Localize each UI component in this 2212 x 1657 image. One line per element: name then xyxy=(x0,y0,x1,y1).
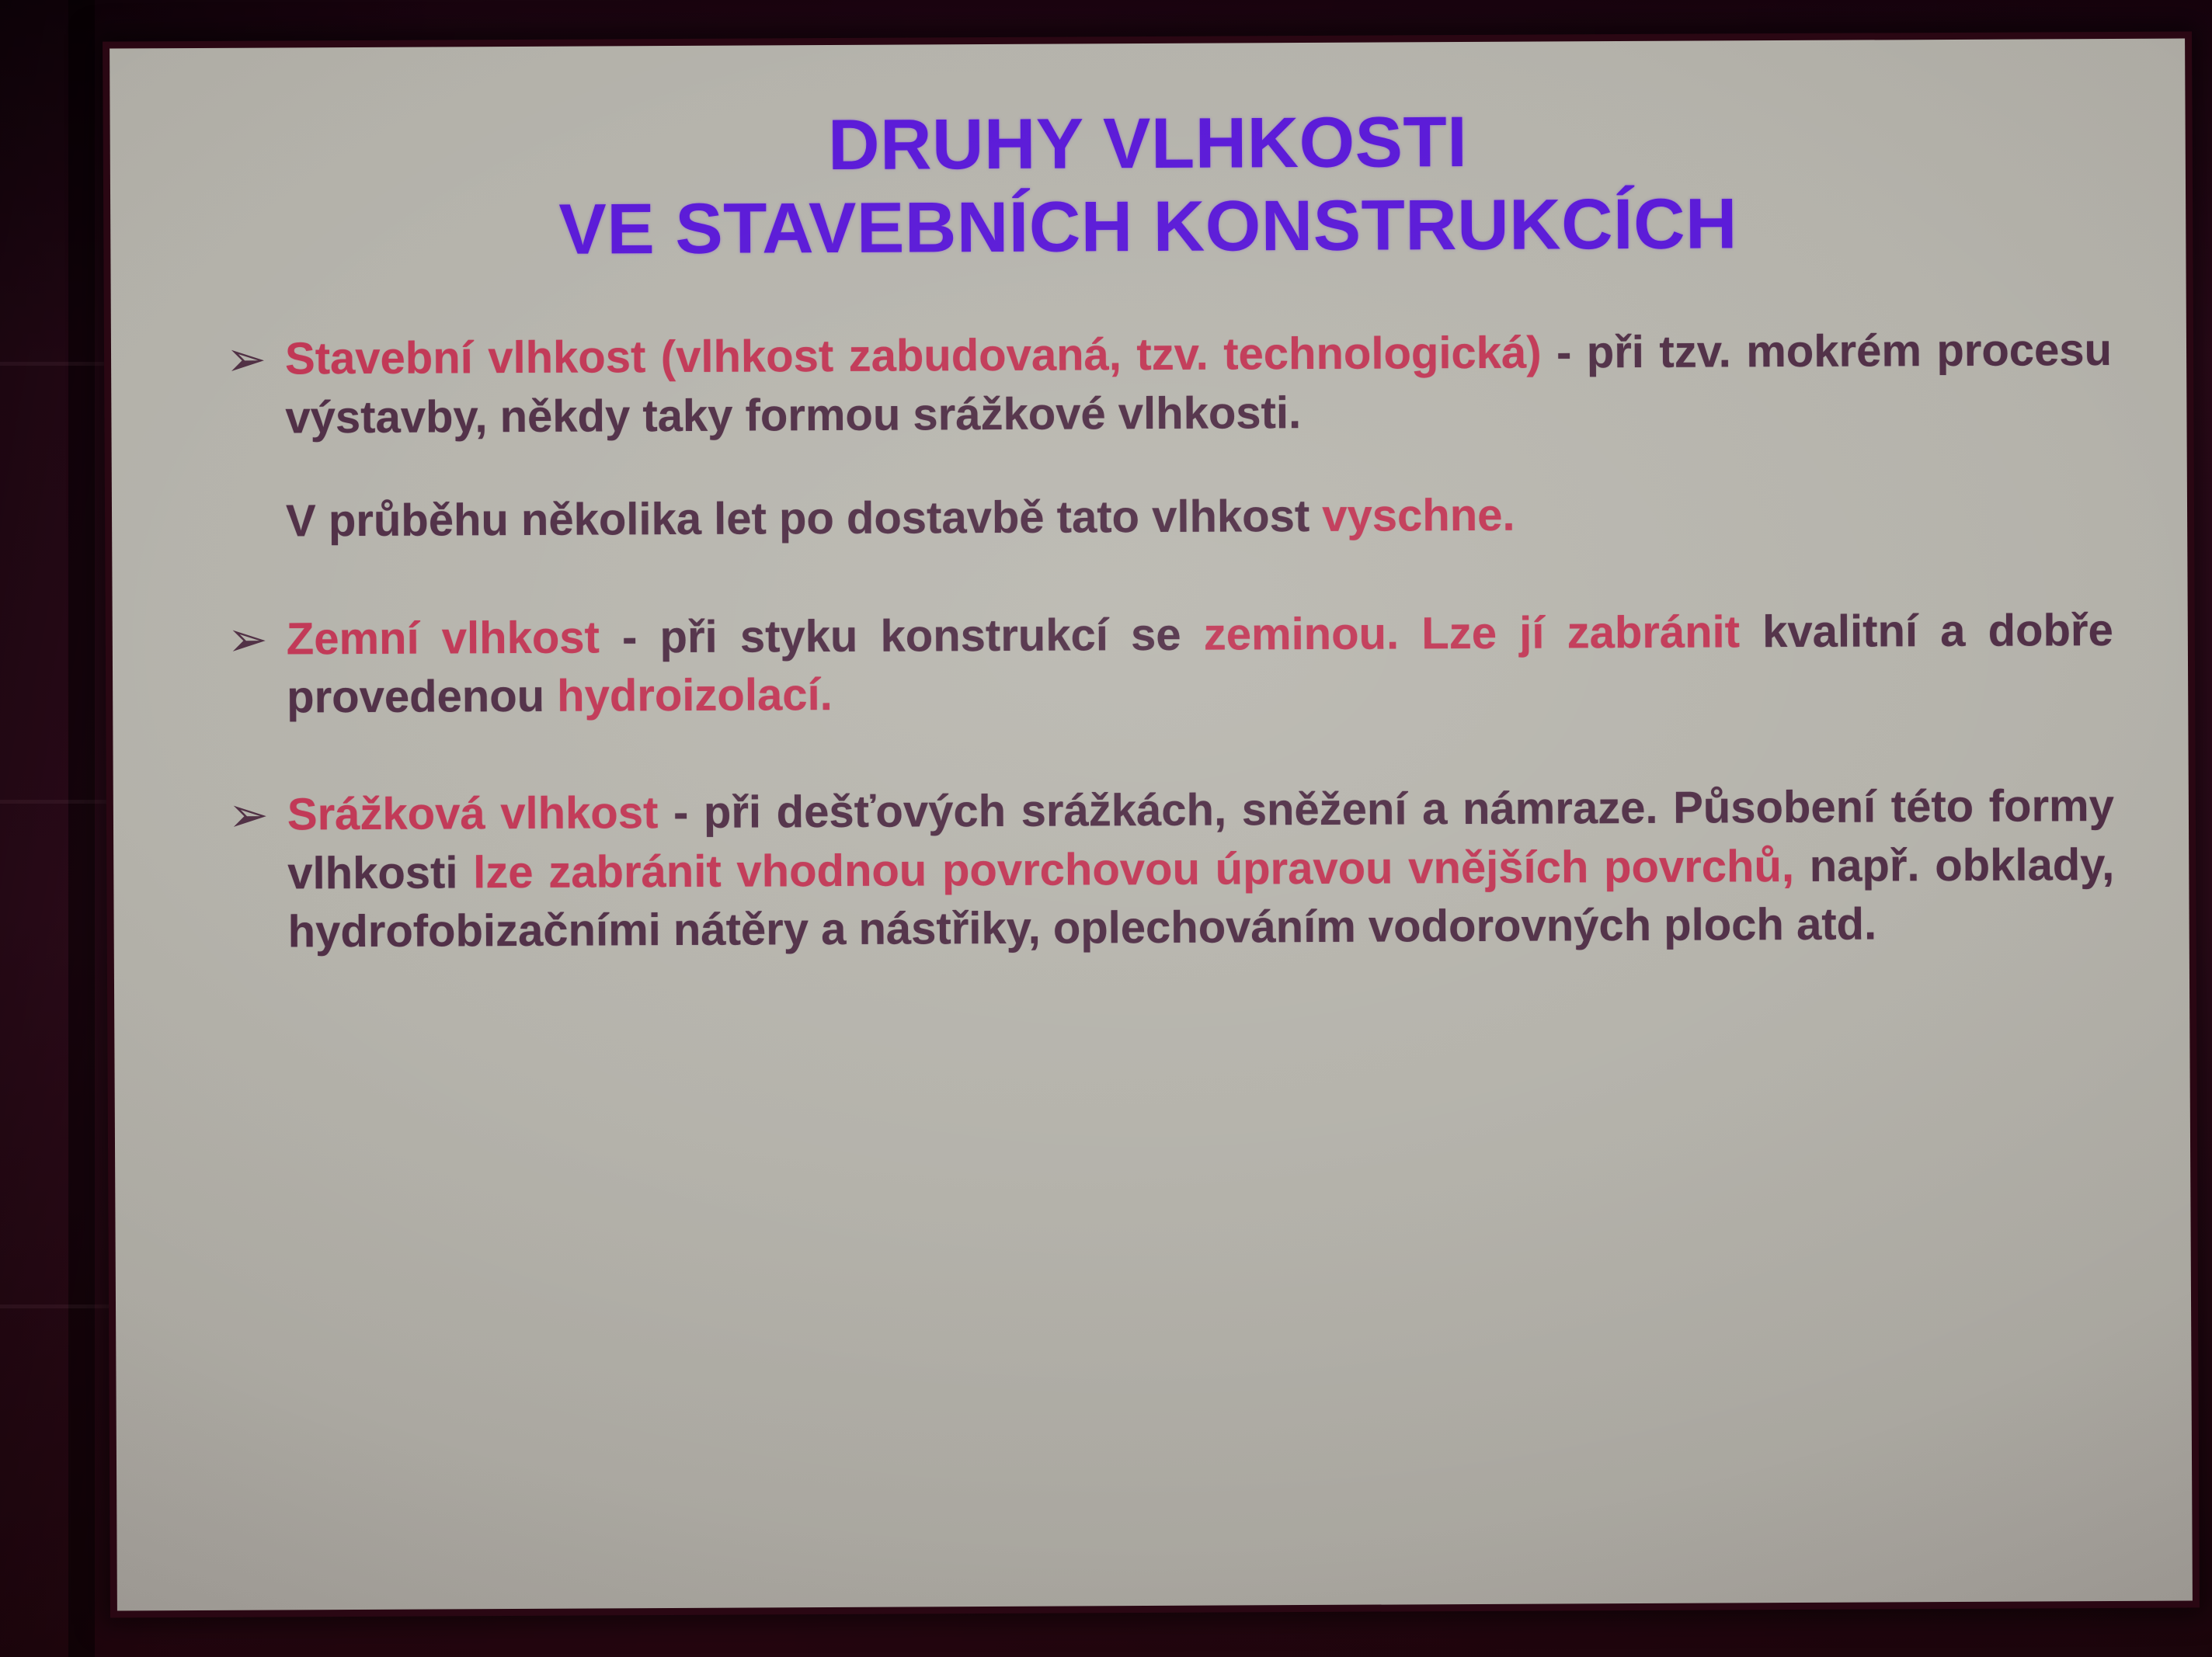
wall-panel-seam-vertical xyxy=(68,0,95,1657)
projection-screen: DRUHY VLHKOSTI VE STAVEBNÍCH KONSTRUKCÍC… xyxy=(110,38,2193,1610)
highlighted-text-run: Zemní vlhkost xyxy=(287,612,600,664)
arrow-bullet-icon: ➢ xyxy=(226,336,268,384)
body-text-run: - při styku konstrukcí se xyxy=(600,609,1204,662)
wall-panel-seam xyxy=(0,1304,117,1308)
bullet-paragraph: Stavební vlhkost (vlhkost zabudovaná, tz… xyxy=(285,321,2113,446)
arrow-bullet-icon: ➢ xyxy=(228,792,270,840)
highlighted-text-run: lze zabránit vhodnou povrchovou úpravou … xyxy=(473,841,1794,898)
bullet-paragraph: V průběhu několika let po dostavbě tato … xyxy=(286,483,2113,551)
highlighted-text-run: Srážková vlhkost xyxy=(287,787,659,839)
slide-title-line-1: DRUHY VLHKOSTI xyxy=(184,98,2110,190)
highlighted-text-run: zeminou. Lze jí zabránit xyxy=(1204,606,1741,659)
slide-title: DRUHY VLHKOSTI VE STAVEBNÍCH KONSTRUKCÍC… xyxy=(184,98,2111,273)
presentation-slide: DRUHY VLHKOSTI VE STAVEBNÍCH KONSTRUKCÍC… xyxy=(110,38,2193,1610)
highlighted-text-run: Stavební vlhkost (vlhkost zabudovaná, tz… xyxy=(285,328,1542,384)
bullet-item-zemni-vlhkost: ➢Zemní vlhkost - při styku konstrukcí se… xyxy=(187,601,2114,728)
bullet-item-stavebni-vlhkost: ➢Stavební vlhkost (vlhkost zabudovaná, t… xyxy=(186,321,2113,551)
highlighted-text-run: vyschne. xyxy=(1322,490,1515,541)
bullet-list: ➢Stavební vlhkost (vlhkost zabudovaná, t… xyxy=(186,321,2115,961)
bullet-paragraph: Zemní vlhkost - při styku konstrukcí se … xyxy=(287,601,2114,727)
highlighted-text-run: hydroizolací. xyxy=(557,669,833,721)
bullet-paragraph: Srážková vlhkost - při dešťových srážkác… xyxy=(287,776,2115,961)
room-photograph: DRUHY VLHKOSTI VE STAVEBNÍCH KONSTRUKCÍC… xyxy=(0,0,2212,1657)
arrow-bullet-icon: ➢ xyxy=(228,616,270,664)
slide-title-line-2: VE STAVEBNÍCH KONSTRUKCÍCH xyxy=(185,181,2111,273)
wall-panel-seam xyxy=(0,800,117,804)
bullet-item-srazkova-vlhkost: ➢Srážková vlhkost - při dešťových srážká… xyxy=(188,776,2115,961)
body-text-run: V průběhu několika let po dostavbě tato … xyxy=(286,491,1323,547)
wall-panel-seam xyxy=(0,362,117,366)
